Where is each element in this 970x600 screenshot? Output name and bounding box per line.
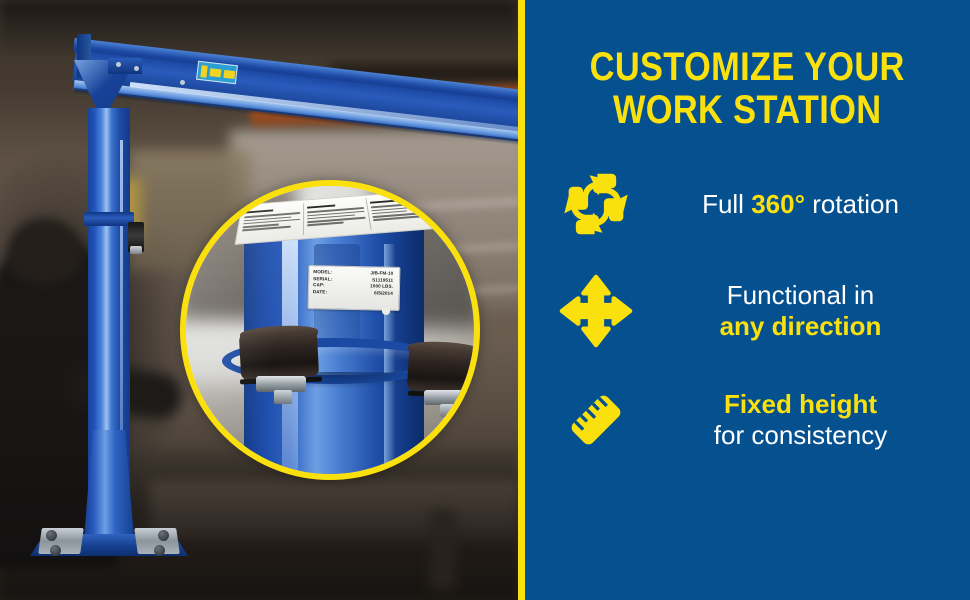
- anchor-bolt: [50, 545, 61, 556]
- product-feature-banner: MODEL: JIB-FM-10 SERIAL: S1119511 CAP: 1…: [0, 0, 970, 600]
- feature-text-post: rotation: [805, 189, 899, 219]
- axle-nut-left: [274, 390, 292, 404]
- vertical-divider: [518, 0, 525, 600]
- nameplate-row: DATE: 6/5/2014: [313, 289, 395, 297]
- anchor-pad-left: [38, 528, 84, 554]
- feature-text-rotation: Full 360° rotation: [661, 189, 954, 221]
- feature-text-pre: Full: [702, 189, 751, 219]
- nameplate-key: DATE:: [313, 289, 351, 296]
- magnified-detail-inset: MODEL: JIB-FM-10 SERIAL: S1119511 CAP: 1…: [180, 180, 480, 480]
- mast-bracket-pin: [130, 246, 142, 254]
- product-photo: MODEL: JIB-FM-10 SERIAL: S1119511 CAP: 1…: [0, 0, 518, 600]
- nameplate-tab: [382, 308, 390, 315]
- sticker-column: [303, 198, 371, 235]
- anchor-bolt: [154, 545, 165, 556]
- feature-panel: CUSTOMIZE YOUR WORK STATION: [525, 0, 970, 600]
- joint-bolt: [134, 66, 139, 71]
- feature-text-line2: any direction: [661, 311, 940, 343]
- rubber-roller-left: [239, 330, 319, 380]
- background-bench-leg: [430, 510, 456, 590]
- ruler-icon-svg: [558, 382, 634, 458]
- mast-collar: [84, 212, 134, 226]
- headline-line-1: CUSTOMIZE YOUR: [590, 45, 905, 89]
- feature-row-rotation: Full 360° rotation: [541, 168, 954, 240]
- headline-line-2: WORK STATION: [590, 89, 905, 132]
- axle-nut-right: [440, 404, 457, 417]
- rotate-360-icon-svg: [560, 168, 632, 240]
- four-way-arrows-icon-svg: [559, 274, 633, 348]
- rotate-360-icon: [541, 168, 651, 240]
- feature-text-highlight: Fixed height: [661, 389, 940, 421]
- sticker-column: [241, 204, 301, 240]
- feature-text-line2: for consistency: [661, 420, 940, 452]
- anchor-bolt: [158, 530, 169, 541]
- background-workbench: [150, 480, 518, 540]
- feature-row-direction: Functional inany direction: [541, 274, 954, 348]
- roller-axle-right: [424, 390, 470, 405]
- feature-text-direction: Functional inany direction: [661, 280, 954, 343]
- headline: CUSTOMIZE YOUR WORK STATION: [590, 46, 905, 132]
- nameplate-value: 6/5/2014: [351, 290, 395, 298]
- blurred-worker-head: [8, 218, 82, 284]
- four-way-arrows-icon: [541, 274, 651, 348]
- product-spec-nameplate: MODEL: JIB-FM-10 SERIAL: S1119511 CAP: 1…: [308, 265, 401, 311]
- anchor-bolt: [46, 530, 57, 541]
- feature-text-pre: Functional in: [661, 280, 940, 312]
- feature-text-highlight: 360°: [751, 189, 805, 219]
- sticker-column: [369, 194, 434, 230]
- joint-bolt: [116, 62, 121, 67]
- ruler-icon: [541, 382, 651, 458]
- joint-bolt: [180, 80, 185, 85]
- feature-list: Full 360° rotation Functional inany dire…: [541, 168, 954, 458]
- feature-text-height: Fixed heightfor consistency: [661, 389, 954, 452]
- feature-row-height: Fixed heightfor consistency: [541, 382, 954, 458]
- rubber-roller-right: [407, 346, 480, 394]
